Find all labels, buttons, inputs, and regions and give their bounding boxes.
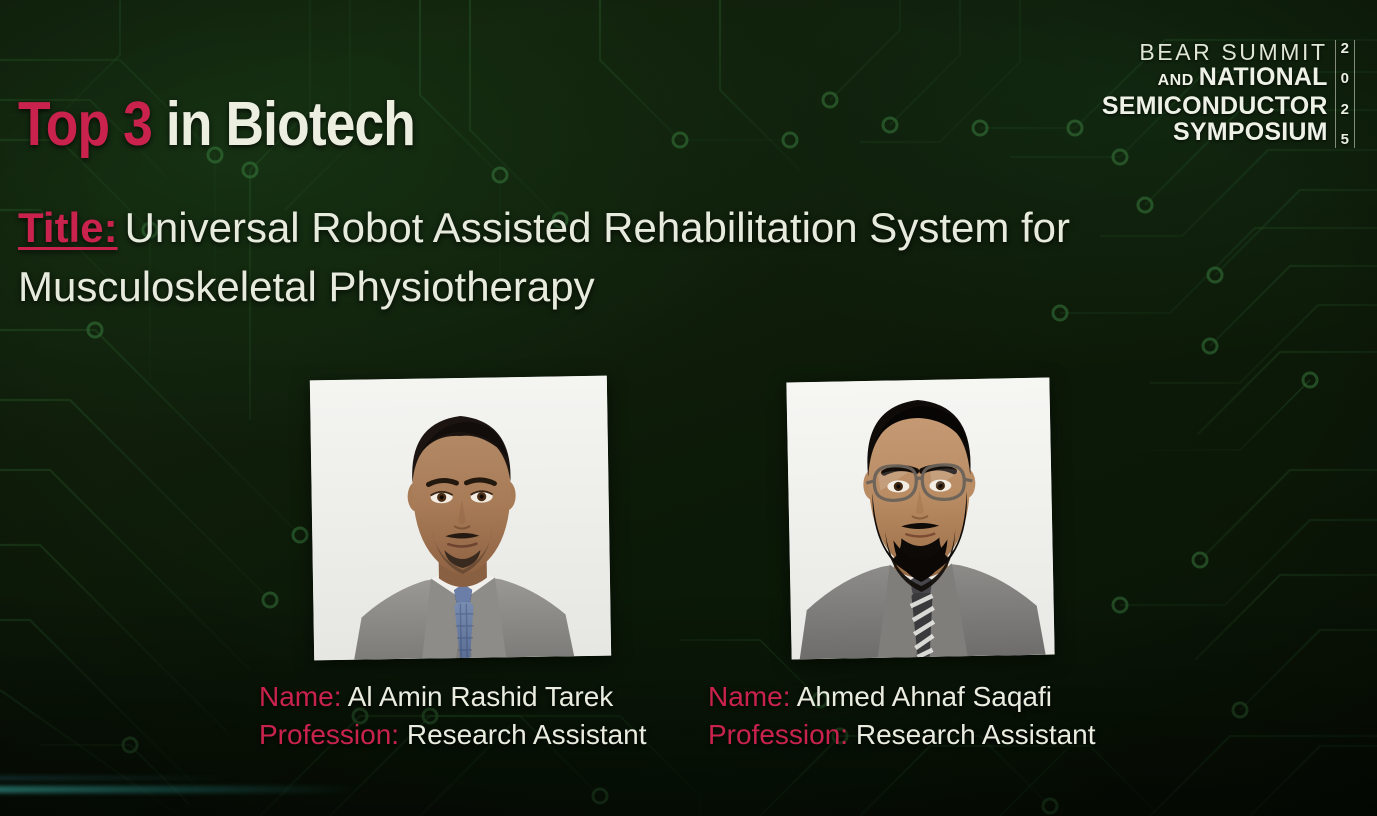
person-profession-value: Research Assistant xyxy=(856,719,1096,750)
headline-accent: Top 3 xyxy=(18,90,152,159)
project-title-text: Universal Robot Assisted Rehabilitation … xyxy=(18,204,1070,310)
logo-year-2025: 2 0 2 5 xyxy=(1335,40,1355,148)
person-name-value: Ahmed Ahnaf Saqafi xyxy=(797,681,1052,712)
logo-year-digit-2: 0 xyxy=(1341,71,1349,86)
logo-line-and-national: AND NATIONAL xyxy=(1158,65,1328,93)
logo-and-word: AND xyxy=(1158,68,1194,93)
event-logo-wordmark: BEAR SUMMIT AND NATIONAL SEMICONDUCTOR S… xyxy=(1102,40,1328,148)
headline-rest: in Biotech xyxy=(152,90,415,159)
person-name-value: Al Amin Rashid Tarek xyxy=(348,681,614,712)
project-title-block: Title:Universal Robot Assisted Rehabilit… xyxy=(18,198,1138,316)
person-name-line: Name: Al Amin Rashid Tarek xyxy=(259,678,647,716)
presentation-slide: BEAR SUMMIT AND NATIONAL SEMICONDUCTOR S… xyxy=(0,0,1377,816)
logo-year-digit-3: 2 xyxy=(1341,102,1349,117)
light-streak-secondary xyxy=(0,776,240,780)
person-profession-label: Profession: xyxy=(259,719,399,750)
avatar xyxy=(786,378,1054,660)
slide-headline: Top 3 in Biotech xyxy=(18,92,415,158)
person-profession-line: Profession: Research Assistant xyxy=(708,716,1096,754)
person-name-label: Name: xyxy=(708,681,790,712)
project-title-label: Title: xyxy=(18,204,118,251)
person-profession-label: Profession: xyxy=(708,719,848,750)
light-streak-primary xyxy=(0,786,360,793)
logo-line-symposium: SYMPOSIUM xyxy=(1173,119,1328,145)
logo-year-digit-4: 5 xyxy=(1341,132,1349,147)
logo-line-bear-summit: BEAR SUMMIT xyxy=(1139,40,1327,65)
logo-year-digit-1: 2 xyxy=(1341,41,1349,56)
logo-national-word: NATIONAL xyxy=(1199,65,1328,90)
event-logo: BEAR SUMMIT AND NATIONAL SEMICONDUCTOR S… xyxy=(1102,40,1355,148)
person-profession-value: Research Assistant xyxy=(407,719,647,750)
person-caption: Name: Ahmed Ahnaf Saqafi Profession: Res… xyxy=(708,678,1096,754)
person-profession-line: Profession: Research Assistant xyxy=(259,716,647,754)
person-caption: Name: Al Amin Rashid Tarek Profession: R… xyxy=(259,678,647,754)
avatar xyxy=(310,376,611,661)
person-name-line: Name: Ahmed Ahnaf Saqafi xyxy=(708,678,1096,716)
person-name-label: Name: xyxy=(259,681,341,712)
logo-line-semiconductor: SEMICONDUCTOR xyxy=(1102,93,1328,119)
